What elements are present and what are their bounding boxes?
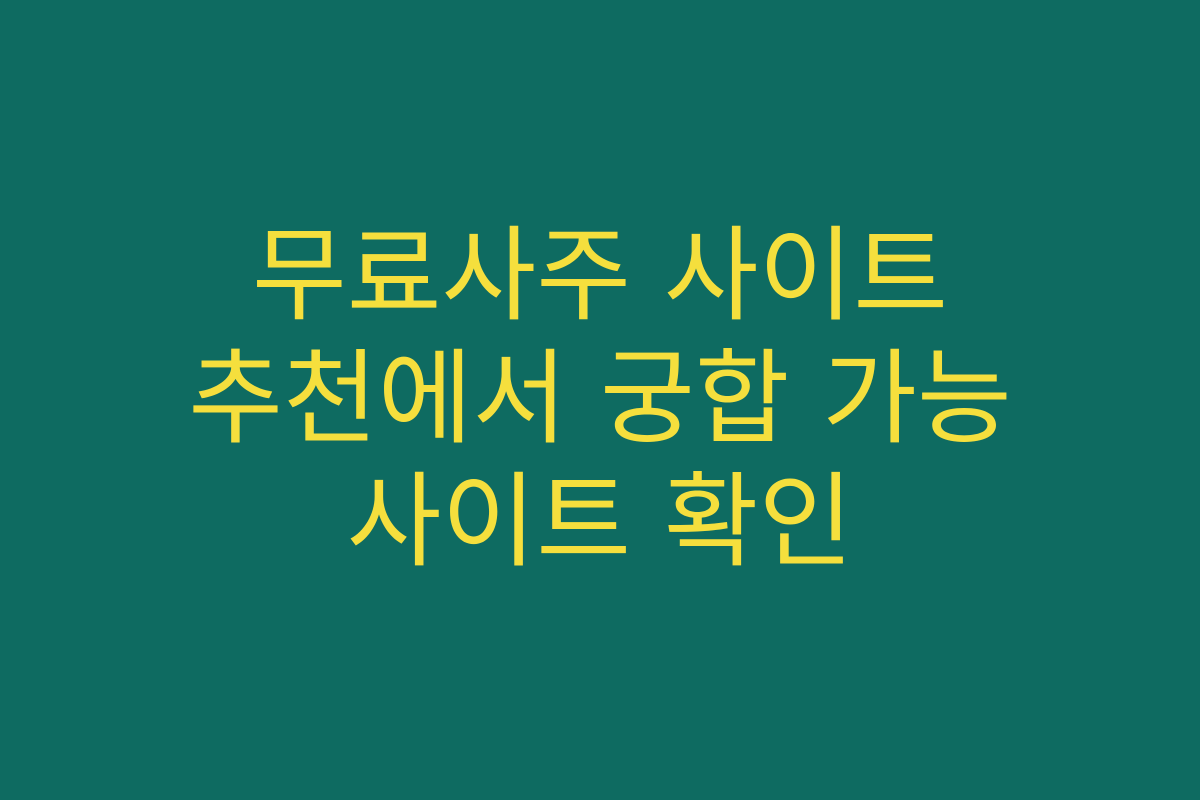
banner-headline: 무료사주 사이트 추천에서 궁합 가능 사이트 확인 [90,215,1110,584]
banner-canvas: 무료사주 사이트 추천에서 궁합 가능 사이트 확인 [0,0,1200,800]
